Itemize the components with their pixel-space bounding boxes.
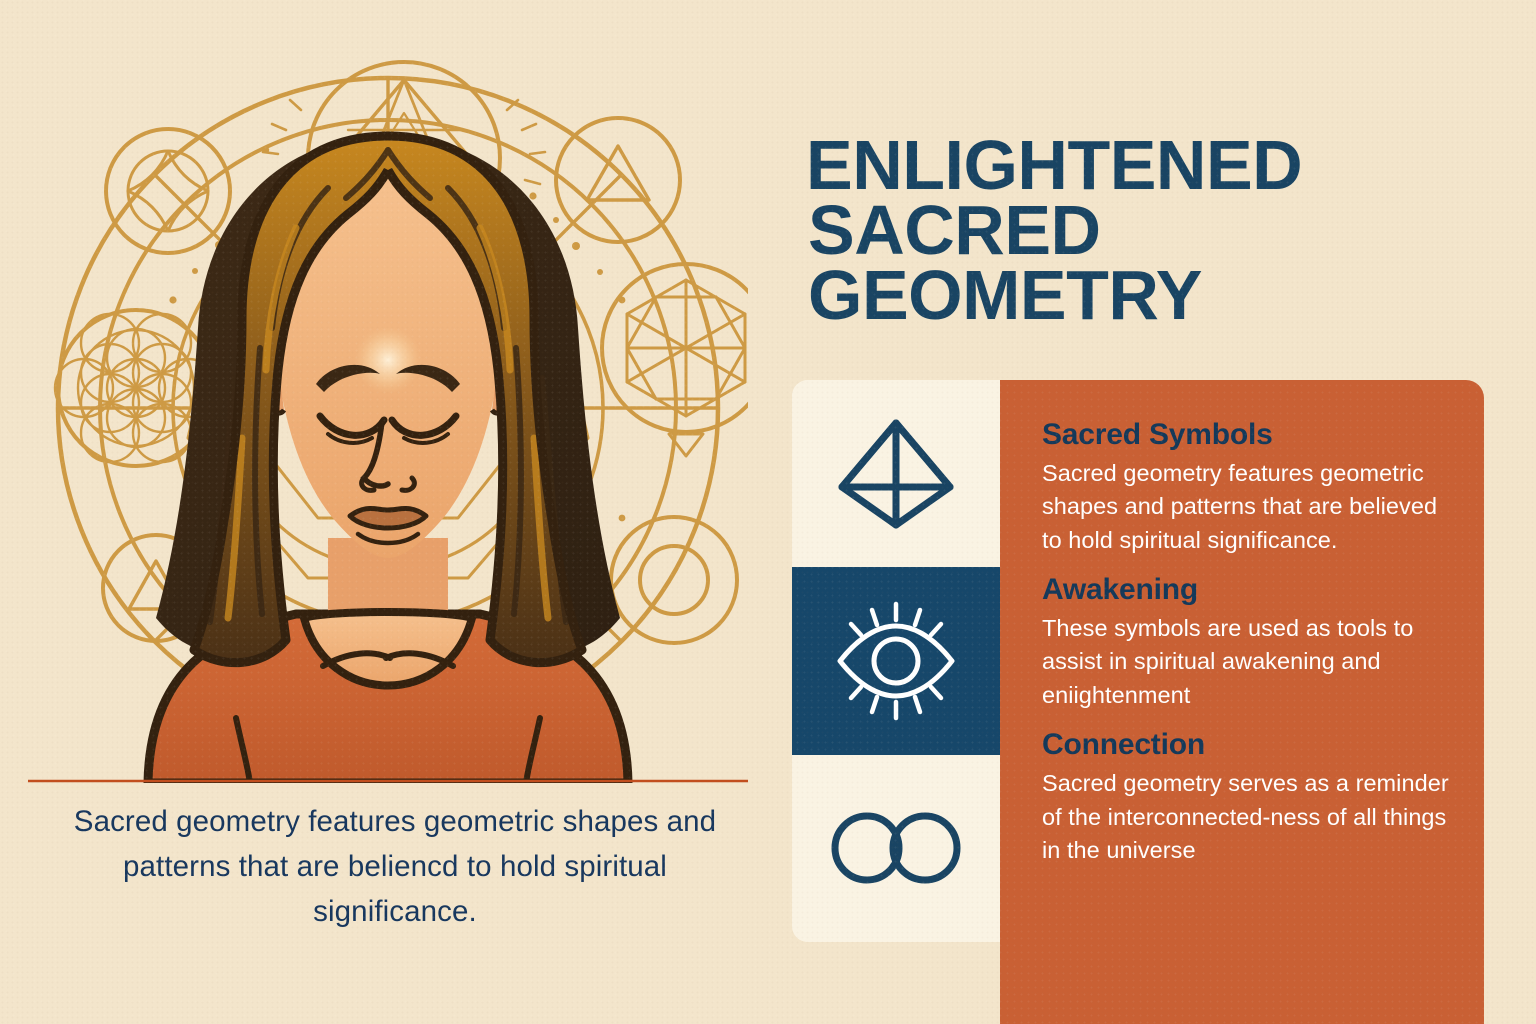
poster-canvas: Sacred geometry features geometric shape… (0, 0, 1536, 1024)
title-line-3: GEOMETRY (806, 263, 1506, 328)
third-eye-icon (832, 600, 960, 722)
info-block: Sacred Symbols Sacred geometry features … (1042, 418, 1456, 557)
info-block: Connection Sacred geometry serves as a r… (1042, 728, 1456, 867)
icon-column (792, 380, 1000, 942)
concentric-circles-medallion (611, 517, 737, 643)
block-heading: Connection (1042, 728, 1456, 761)
title-line-2: SACRED (806, 198, 1506, 263)
block-heading: Sacred Symbols (1042, 418, 1456, 451)
text-column: Sacred Symbols Sacred geometry features … (1000, 380, 1484, 1024)
third-eye-glow (354, 326, 422, 394)
title-line-1: ENLIGHTENED (806, 133, 1506, 198)
mouth (350, 509, 426, 529)
info-card: Sacred Symbols Sacred geometry features … (792, 380, 1484, 1024)
infinity-circles-icon (828, 812, 964, 884)
page-title: ENLIGHTENED SACRED GEOMETRY (806, 133, 1506, 328)
infinity-circles-icon-cell (792, 755, 1000, 942)
info-block: Awakening These symbols are used as tool… (1042, 573, 1456, 712)
block-body: Sacred geometry features geometric shape… (1042, 457, 1456, 557)
woman-figure (148, 136, 628, 783)
illustration-caption: Sacred geometry features geometric shape… (50, 800, 740, 934)
block-body: Sacred geometry serves as a reminder of … (1042, 767, 1456, 867)
block-body: These symbols are used as tools to assis… (1042, 612, 1456, 712)
third-eye-icon-cell (792, 567, 1000, 754)
vesica-star-medallion (106, 129, 230, 253)
meditating-woman-illustration (28, 18, 748, 788)
block-heading: Awakening (1042, 573, 1456, 606)
pyramid-icon (834, 415, 958, 533)
pyramid-icon-cell (792, 380, 1000, 567)
